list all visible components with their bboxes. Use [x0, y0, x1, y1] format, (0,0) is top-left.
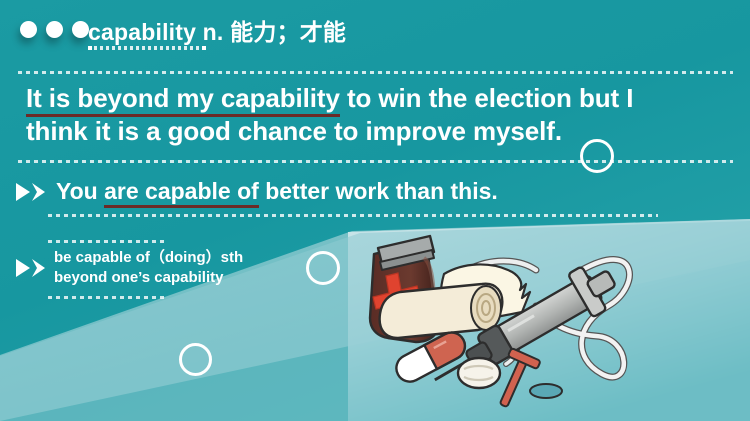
list-item: beyond one’s capability — [54, 268, 243, 288]
title-underline-rule — [88, 46, 206, 50]
dot-icon — [20, 21, 37, 38]
divider-phrases-top — [48, 240, 166, 243]
double-chevron-icon — [14, 257, 48, 279]
example-two-underlined: are capable of — [104, 178, 259, 208]
ring-icon — [179, 343, 212, 376]
double-chevron-icon — [14, 181, 48, 203]
dot-icon — [72, 21, 89, 38]
divider-middle — [18, 160, 733, 163]
ring-icon — [306, 251, 340, 285]
phrase-list-row: be capable of（doing）sth beyond one’s cap… — [14, 248, 243, 288]
divider-sentence-two — [48, 214, 658, 217]
example-two-suffix: better work than this. — [259, 178, 498, 204]
divider-top — [18, 71, 733, 74]
example-sentence-two-row: You are capable of better work than this… — [14, 178, 498, 205]
example-two-prefix: You — [56, 178, 104, 204]
medical-supplies-illustration — [340, 218, 750, 421]
divider-phrases-bottom — [48, 296, 166, 299]
list-item: be capable of（doing）sth — [54, 248, 243, 268]
dot-icon — [46, 21, 63, 38]
example-sentence-two: You are capable of better work than this… — [56, 178, 498, 205]
example-main-underlined: It is beyond my capability — [26, 83, 340, 117]
slide-root: capability n. 能力；才能 It is beyond my capa… — [0, 0, 750, 421]
page-title: capability n. 能力；才能 — [88, 13, 346, 47]
phrase-list: be capable of（doing）sth beyond one’s cap… — [54, 248, 243, 288]
ring-icon — [580, 139, 614, 173]
